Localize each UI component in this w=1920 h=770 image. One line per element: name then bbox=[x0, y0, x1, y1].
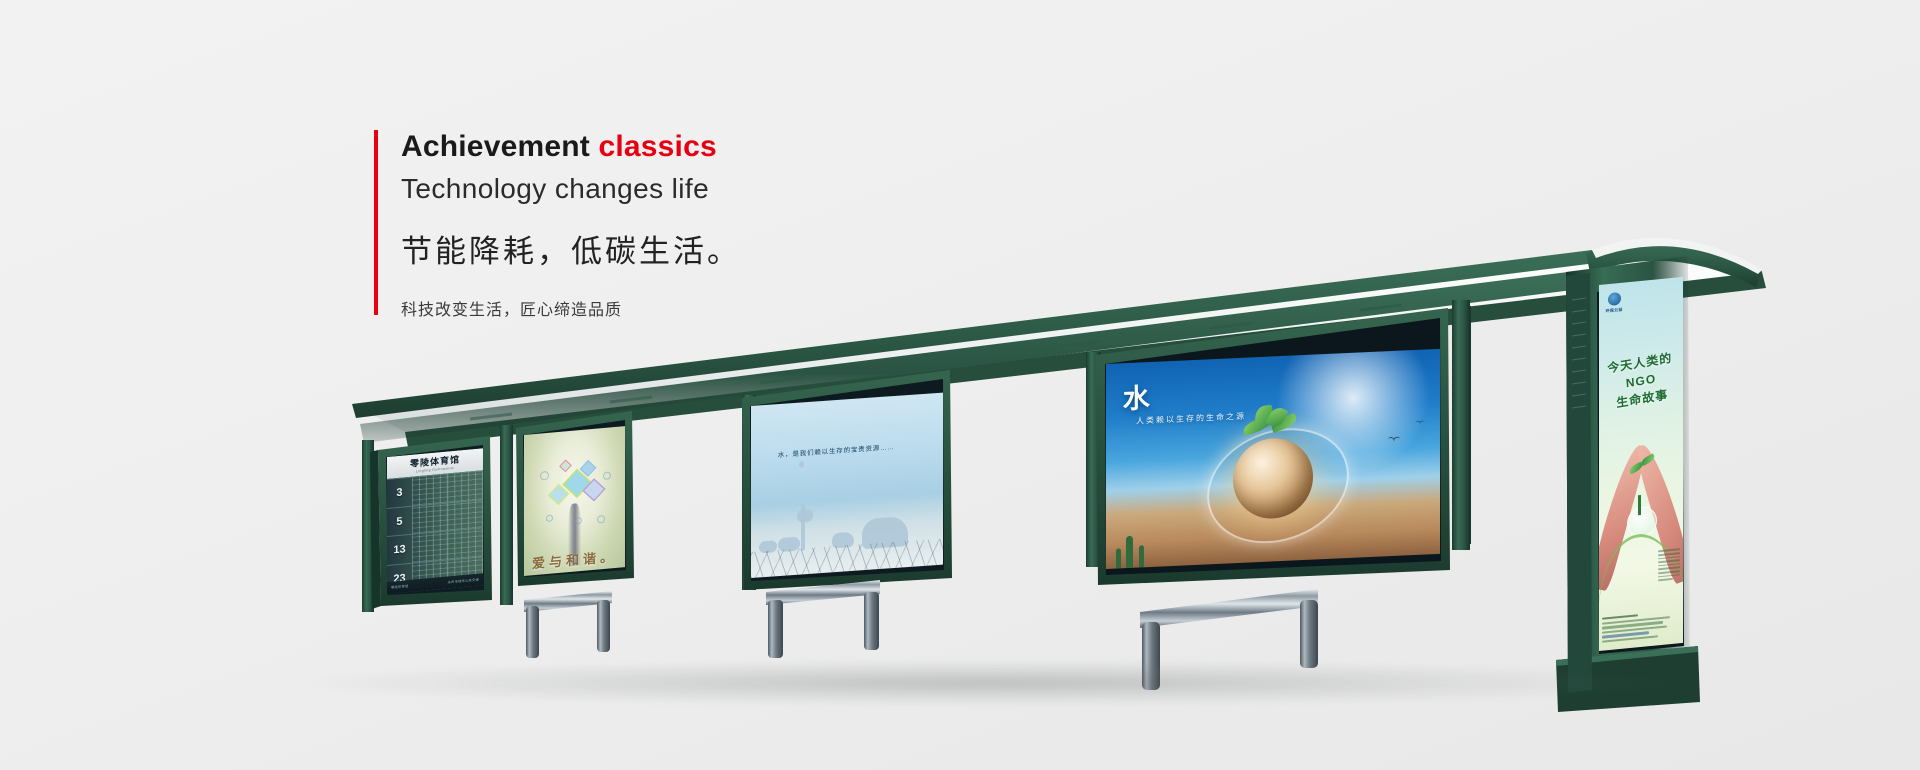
panel-poster-water[interactable]: 水 人类赖以生存的生命之源 bbox=[1106, 349, 1440, 569]
heart-icon bbox=[581, 461, 595, 475]
bubble-decoration bbox=[540, 471, 549, 481]
route-number: 5 bbox=[387, 506, 412, 536]
logo-badge-icon bbox=[1608, 292, 1621, 306]
poster-headline: 水，是我们赖以生存的宝贵资源…… bbox=[778, 441, 895, 459]
panel-schedule-board[interactable]: 零陵体育馆 Lingling Gymnasium 3 5 13 23 零陵体育馆 bbox=[387, 448, 483, 594]
panel-poster-ngo[interactable]: 环保公益 今天人类的NGO 生命故事 bbox=[1599, 277, 1683, 651]
sprout-icon bbox=[1253, 405, 1296, 444]
poster-headline: 水 bbox=[1123, 376, 1152, 416]
bubble-decoration bbox=[597, 515, 605, 524]
route-number: 13 bbox=[387, 535, 412, 565]
ground-shadow bbox=[300, 660, 1680, 706]
sprout-icon bbox=[1638, 495, 1641, 515]
heart-icon bbox=[584, 480, 604, 500]
panel-poster-wildlife[interactable]: 水，是我们赖以生存的宝贵资源…… bbox=[751, 393, 943, 578]
giraffe-silhouette bbox=[797, 509, 813, 523]
bench bbox=[524, 591, 612, 658]
panel-poster-heart-tree[interactable]: 爱与和谐。 bbox=[524, 426, 625, 576]
cactus-icon bbox=[1139, 545, 1144, 567]
ngo-side-text-block bbox=[1658, 549, 1680, 583]
route-number: 3 bbox=[387, 478, 412, 508]
bubble-decoration bbox=[546, 514, 553, 522]
poster-subheadline: 人类赖以生存的生命之源 bbox=[1136, 411, 1246, 427]
logo-label: 环保公益 bbox=[1605, 307, 1623, 315]
ngo-logo: 环保公益 bbox=[1605, 292, 1623, 315]
schedule-footer-right: 永州市城市公共交通 bbox=[448, 577, 479, 585]
bird-icon bbox=[1387, 437, 1401, 445]
giraffe-silhouette bbox=[799, 462, 804, 468]
bus-shelter-render: 零陵体育馆 Lingling Gymnasium 3 5 13 23 零陵体育馆 bbox=[0, 0, 1920, 770]
schedule-footer-left: 零陵体育馆 bbox=[391, 583, 408, 590]
ngo-footer-text-block bbox=[1602, 610, 1679, 645]
cactus-icon bbox=[1126, 536, 1133, 568]
poster-headline: 今天人类的NGO 生命故事 bbox=[1599, 347, 1683, 414]
bench bbox=[766, 580, 880, 658]
cactus-icon bbox=[1116, 548, 1121, 568]
bubble-decoration bbox=[603, 471, 611, 480]
bird-icon bbox=[1415, 420, 1425, 425]
